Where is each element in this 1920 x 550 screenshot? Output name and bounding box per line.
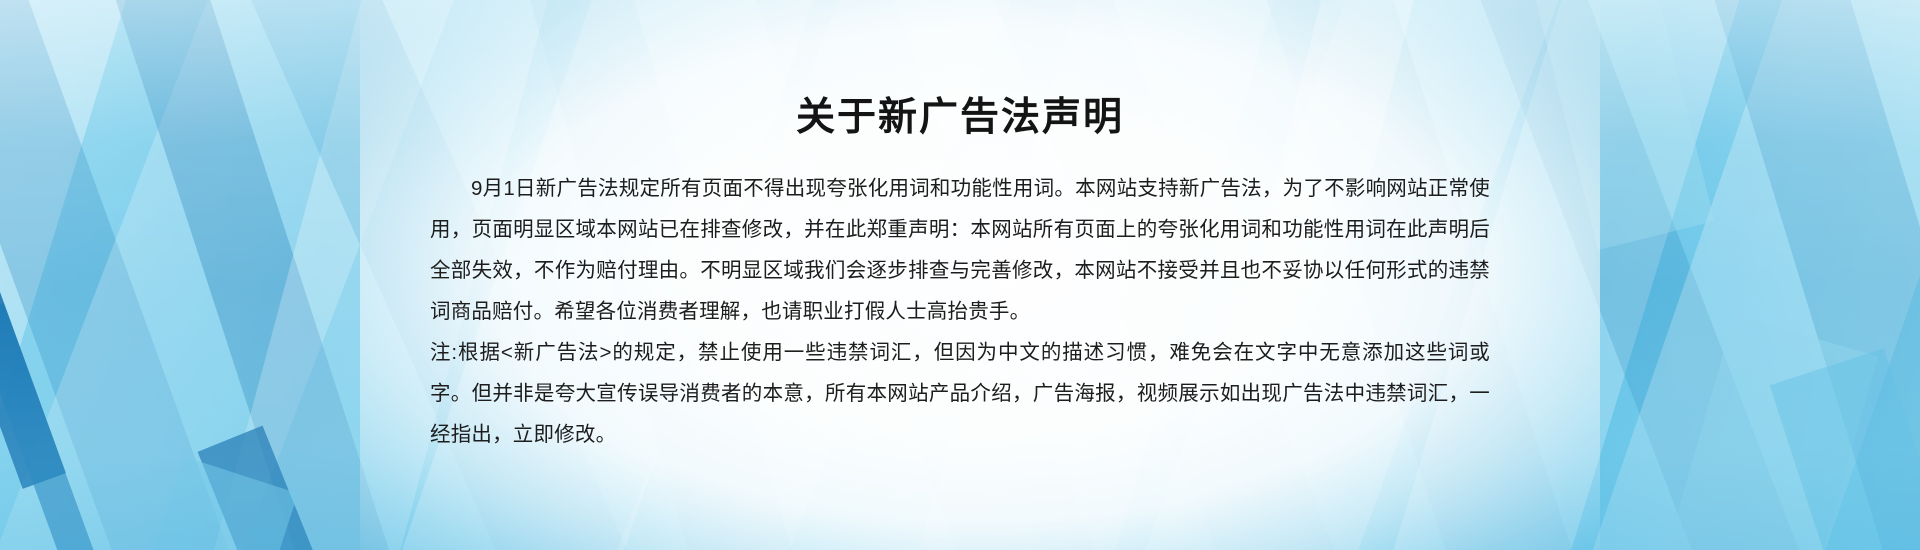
statement-paragraph-1: 9月1日新广告法规定所有页面不得出现夸张化用词和功能性用词。本网站支持新广告法，… [430, 168, 1490, 332]
statement-content: 关于新广告法声明 9月1日新广告法规定所有页面不得出现夸张化用词和功能性用词。本… [0, 0, 1920, 550]
statement-title: 关于新广告法声明 [430, 0, 1490, 142]
advertising-law-statement-banner: 关于新广告法声明 9月1日新广告法规定所有页面不得出现夸张化用词和功能性用词。本… [0, 0, 1920, 550]
statement-paragraph-2: 注:根据<新广告法>的规定，禁止使用一些违禁词汇，但因为中文的描述习惯，难免会在… [430, 332, 1490, 455]
statement-body: 9月1日新广告法规定所有页面不得出现夸张化用词和功能性用词。本网站支持新广告法，… [430, 142, 1490, 455]
